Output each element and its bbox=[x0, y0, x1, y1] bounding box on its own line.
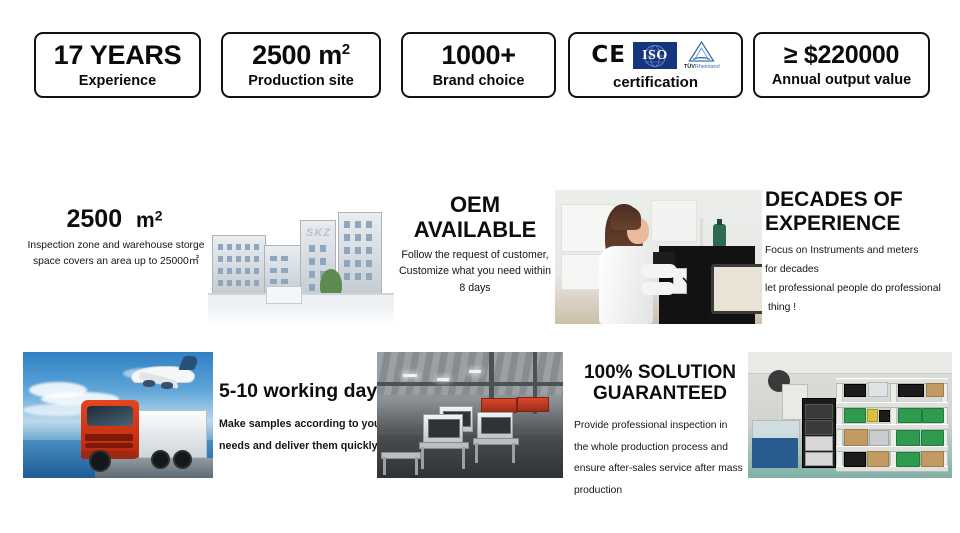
lamp bbox=[403, 374, 417, 377]
green-bin bbox=[898, 408, 922, 423]
title-line: 100% SOLUTION bbox=[574, 362, 746, 383]
body-line: Inspection zone and warehouse storge bbox=[16, 238, 216, 254]
body-line: Focus on Instruments and meters bbox=[765, 241, 960, 260]
stat-label: Experience bbox=[79, 74, 156, 89]
green-bin bbox=[896, 452, 920, 467]
stored-item bbox=[879, 410, 890, 422]
iso-badge-icon: ISO bbox=[633, 42, 677, 69]
tuv-label: TÜVRheinland bbox=[684, 64, 720, 70]
stored-item bbox=[844, 452, 866, 467]
gatehouse bbox=[266, 286, 302, 304]
decades-body: Focus on Instruments and meters for deca… bbox=[765, 241, 960, 317]
stat-years-experience: 17 YEARS Experience bbox=[34, 32, 201, 98]
machine bbox=[423, 414, 463, 444]
warehouse-shelving-image bbox=[748, 352, 952, 478]
hair-top bbox=[611, 206, 641, 230]
stored-item bbox=[844, 384, 866, 397]
stat-value: 17 YEARS bbox=[54, 42, 182, 69]
stat-certification: CE ISO bbox=[568, 32, 743, 98]
title-line: EXPERIENCE bbox=[765, 212, 955, 236]
building bbox=[212, 235, 266, 298]
red-equipment bbox=[517, 397, 549, 412]
airplane-engine bbox=[161, 382, 173, 389]
title-line: GUARANTEED bbox=[574, 383, 746, 404]
truck-trailer bbox=[131, 410, 207, 458]
lamp bbox=[437, 378, 449, 381]
headline-value: 2500 bbox=[66, 205, 122, 233]
stand bbox=[700, 218, 703, 248]
decades-title: DECADES OF EXPERIENCE bbox=[765, 188, 955, 235]
body-line: 8 days bbox=[396, 280, 554, 296]
truck-wheel bbox=[89, 450, 111, 472]
truck-wheel bbox=[173, 450, 192, 469]
body-line: production bbox=[574, 480, 754, 502]
logistics-image bbox=[23, 352, 213, 478]
title-line: AVAILABLE bbox=[400, 218, 550, 243]
green-bin bbox=[921, 430, 944, 446]
body-line: let professional people do professional bbox=[765, 279, 960, 298]
stat-annual-output-value: ≥ $220000 Annual output value bbox=[753, 32, 930, 98]
certification-logos: CE ISO bbox=[591, 41, 719, 71]
window bbox=[651, 200, 697, 242]
warehouse-area-headline: 2500 m2 bbox=[22, 205, 207, 233]
arm bbox=[641, 282, 675, 295]
body-line: Follow the request of customer, bbox=[396, 247, 554, 263]
stat-value: 2500 m2 bbox=[252, 42, 350, 69]
green-bin bbox=[896, 430, 920, 446]
lamp bbox=[469, 370, 481, 373]
title-line: 5-10 working days bbox=[219, 380, 388, 402]
solution-body: Provide professional inspection in the w… bbox=[574, 415, 754, 501]
building bbox=[338, 212, 382, 298]
lab-technician-image bbox=[555, 190, 762, 324]
stat-label: certification bbox=[613, 75, 698, 90]
body-line: Provide professional inspection in bbox=[574, 415, 754, 437]
stat-brand-choice: 1000+ Brand choice bbox=[401, 32, 556, 98]
title-line: OEM bbox=[400, 193, 550, 218]
shelving-unit bbox=[836, 378, 948, 470]
warehouse-area-body: Inspection zone and warehouse storge spa… bbox=[16, 238, 216, 270]
glass-counter bbox=[752, 420, 800, 440]
tuv-rheinland-icon: TÜVRheinland bbox=[684, 41, 720, 70]
cable-icon bbox=[681, 276, 725, 320]
office-buildings-image: SKZ bbox=[208, 196, 394, 324]
building-logo: SKZ bbox=[306, 227, 331, 239]
arm bbox=[641, 264, 677, 278]
tuv-bold: TÜV bbox=[684, 64, 695, 70]
stat-value-superscript: 2 bbox=[342, 42, 350, 58]
body-line: Customize what you need within bbox=[396, 263, 554, 279]
stat-value: ≥ $220000 bbox=[784, 43, 899, 68]
ce-mark-icon: CE bbox=[591, 44, 626, 67]
body-line: for decades bbox=[765, 260, 960, 279]
stats-banner: 17 YEARS Experience 2500 m2 Production s… bbox=[0, 22, 960, 114]
machine bbox=[477, 412, 513, 439]
truck-grille bbox=[85, 434, 133, 441]
headline-superscript: 2 bbox=[155, 208, 163, 224]
working-days-title: 5-10 working days bbox=[219, 381, 388, 403]
page-root: 17 YEARS Experience 2500 m2 Production s… bbox=[0, 0, 960, 533]
bottle-cap bbox=[717, 219, 722, 225]
title-line: DECADES OF bbox=[765, 188, 955, 212]
oem-title: OEM AVAILABLE bbox=[400, 193, 550, 242]
headline-unit: m bbox=[136, 209, 155, 232]
red-equipment bbox=[481, 398, 517, 413]
truck-windshield bbox=[87, 406, 133, 426]
tuv-rest: Rheinland bbox=[695, 64, 720, 70]
stat-label: Annual output value bbox=[772, 73, 911, 88]
stat-value: 1000+ bbox=[441, 42, 515, 69]
body-line: needs and deliver them quickly bbox=[219, 435, 389, 457]
green-bin bbox=[844, 408, 866, 423]
body-line: space covers an area up to 25000㎡ bbox=[16, 254, 216, 270]
body-line: ensure after-sales service after mass bbox=[574, 458, 754, 480]
oem-body: Follow the request of customer, Customiz… bbox=[396, 247, 554, 296]
body-line: Make samples according to your bbox=[219, 413, 389, 435]
stat-value-main: 2500 m bbox=[252, 40, 342, 70]
production-workshop-image bbox=[377, 352, 563, 478]
stat-label: Brand choice bbox=[433, 74, 525, 89]
truck-grille bbox=[85, 443, 133, 448]
stat-production-site: 2500 m2 Production site bbox=[221, 32, 381, 98]
solution-title: 100% SOLUTION GUARANTEED bbox=[574, 362, 746, 405]
green-bin bbox=[922, 408, 944, 423]
working-days-body: Make samples according to your needs and… bbox=[219, 413, 389, 458]
counter-base bbox=[752, 438, 798, 468]
truck-wheel bbox=[151, 450, 170, 469]
body-line: thing ! bbox=[765, 298, 960, 317]
iso-label: ISO bbox=[642, 48, 668, 64]
stat-label: Production site bbox=[248, 74, 354, 89]
airplane-engine bbox=[143, 380, 155, 387]
stored-item bbox=[898, 384, 924, 397]
body-line: the whole production process and bbox=[574, 437, 754, 459]
